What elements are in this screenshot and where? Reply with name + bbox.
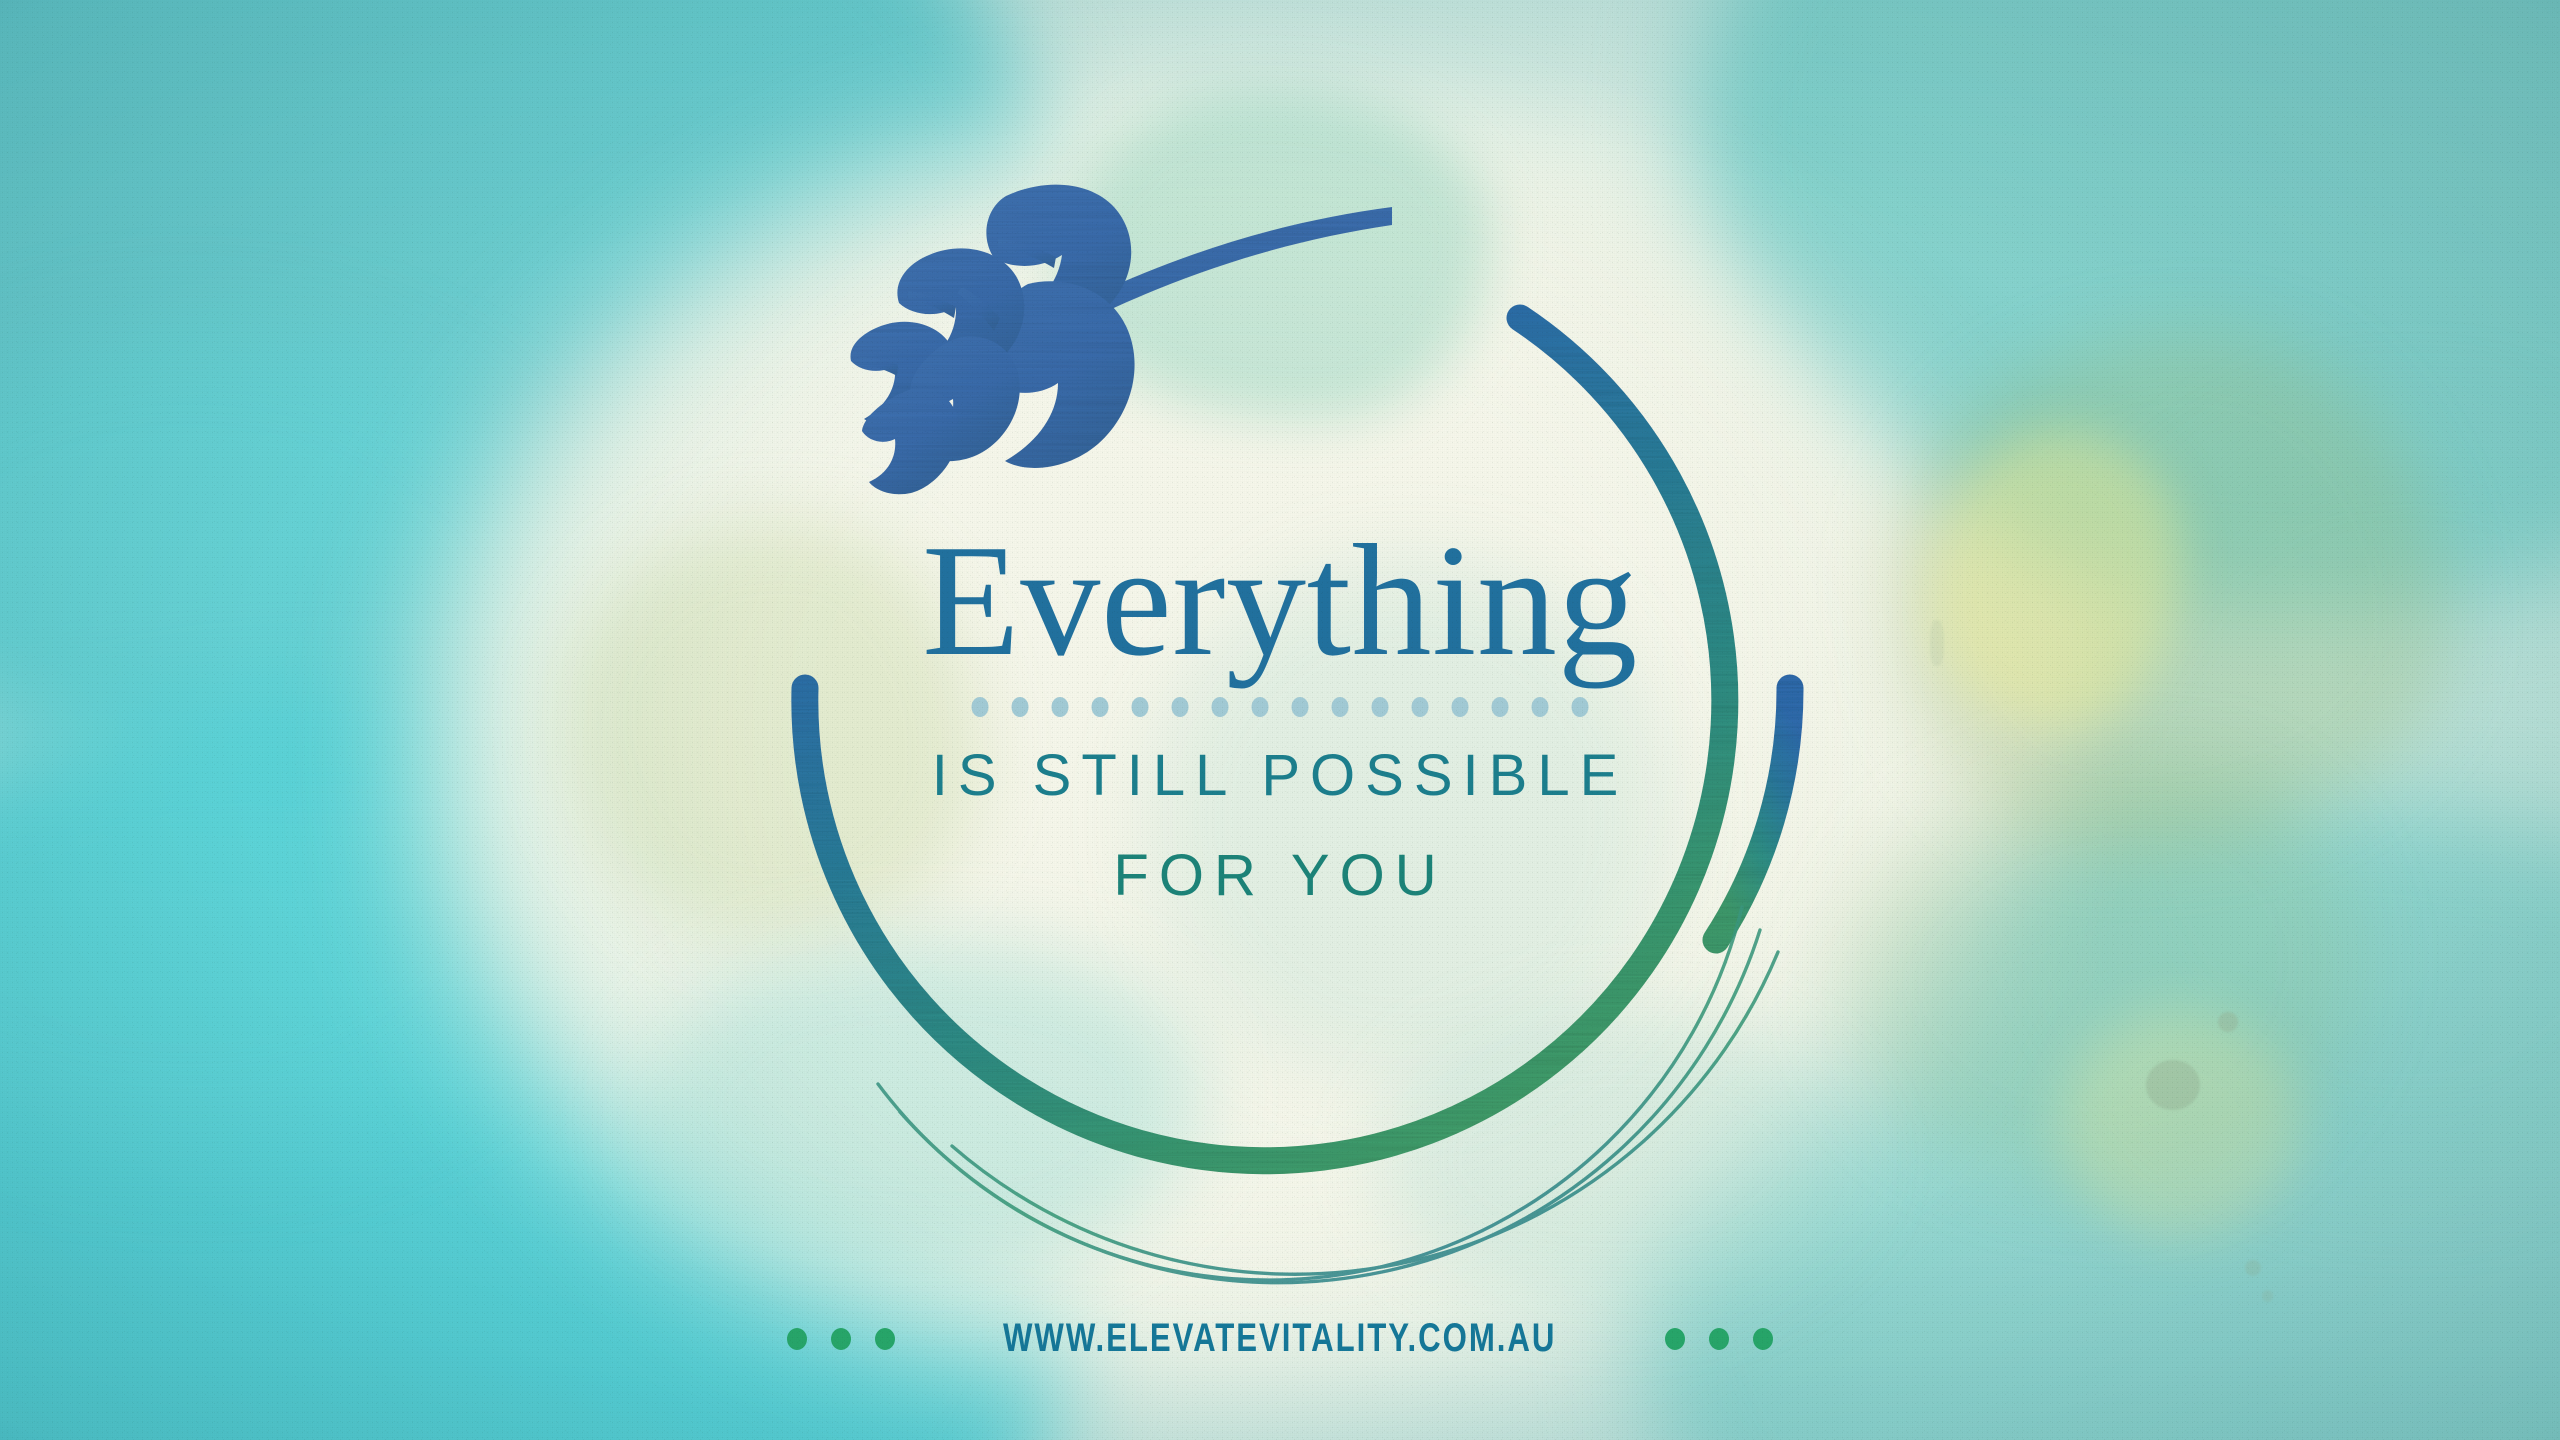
paper-speckle-texture	[0, 0, 2560, 1440]
poster-canvas: Everything IS STILL POSSIBLE FOR YOU WWW…	[0, 0, 2560, 1440]
